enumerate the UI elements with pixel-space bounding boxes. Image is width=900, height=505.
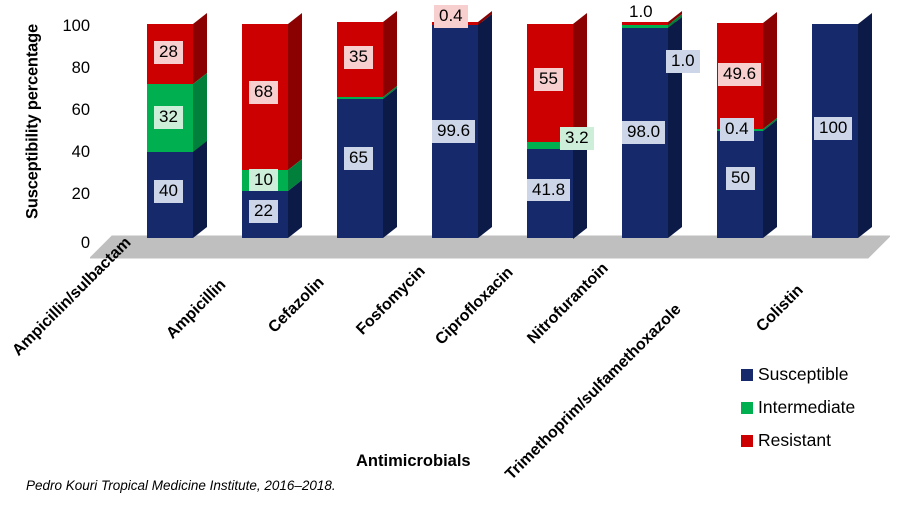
value-label-resistant: 68 — [249, 81, 278, 104]
value-label-susceptible: 22 — [249, 200, 278, 223]
value-label-susceptible: 50 — [726, 167, 755, 190]
value-label-intermediate: 10 — [249, 169, 278, 192]
legend-label: Susceptible — [758, 366, 848, 384]
value-label-susceptible: 40 — [154, 180, 183, 203]
legend-label: Intermediate — [758, 399, 855, 417]
value-label-intermediate: 32 — [154, 106, 183, 129]
value-label-susceptible: 100 — [814, 117, 852, 140]
value-label-resistant: 49.6 — [718, 63, 761, 86]
value-label-resistant: 55 — [534, 68, 563, 91]
legend-label: Resistant — [758, 432, 831, 450]
legend: Susceptible Intermediate Resistant — [741, 358, 855, 457]
legend-item-susceptible[interactable]: Susceptible — [741, 358, 855, 391]
x-axis-title: Antimicrobials — [356, 452, 471, 471]
legend-item-intermediate[interactable]: Intermediate — [741, 391, 855, 424]
legend-swatch-icon — [741, 402, 753, 414]
value-label-resistant: 1.0 — [628, 2, 654, 22]
value-label-intermediate: 3.2 — [560, 127, 594, 150]
category-label-ampicillin-sulbactam: Ampicillin/sulbactam — [9, 234, 135, 360]
value-label-susceptible: 98.0 — [622, 121, 665, 144]
legend-item-resistant[interactable]: Resistant — [741, 424, 855, 457]
legend-swatch-icon — [741, 369, 753, 381]
value-label-susceptible: 65 — [344, 147, 373, 170]
value-label-resistant: 35 — [344, 46, 373, 69]
value-label-susceptible: 41.8 — [527, 179, 570, 202]
chart-container: Susceptibility percentage 100 80 60 40 2… — [0, 0, 900, 505]
category-label-cefazolin: Cefazolin — [265, 274, 328, 337]
category-label-fosfomycin: Fosfomycin — [353, 263, 429, 339]
category-label-nitrofurantoin: Nitrofurantoin — [524, 260, 612, 348]
value-label-intermediate: 1.0 — [666, 50, 700, 73]
category-label-ampicillin: Ampicillin — [163, 276, 230, 343]
figure-caption: Pedro Kouri Tropical Medicine Institute,… — [26, 478, 336, 493]
value-label-resistant: 0.4 — [434, 5, 468, 28]
value-label-intermediate: 0.4 — [720, 118, 754, 141]
category-label-ciprofloxacin: Ciprofloxacin — [432, 264, 517, 349]
category-label-colistin: Colistin — [753, 282, 807, 336]
value-label-resistant: 28 — [154, 41, 183, 64]
value-label-susceptible: 99.6 — [432, 120, 475, 143]
legend-swatch-icon — [741, 435, 753, 447]
